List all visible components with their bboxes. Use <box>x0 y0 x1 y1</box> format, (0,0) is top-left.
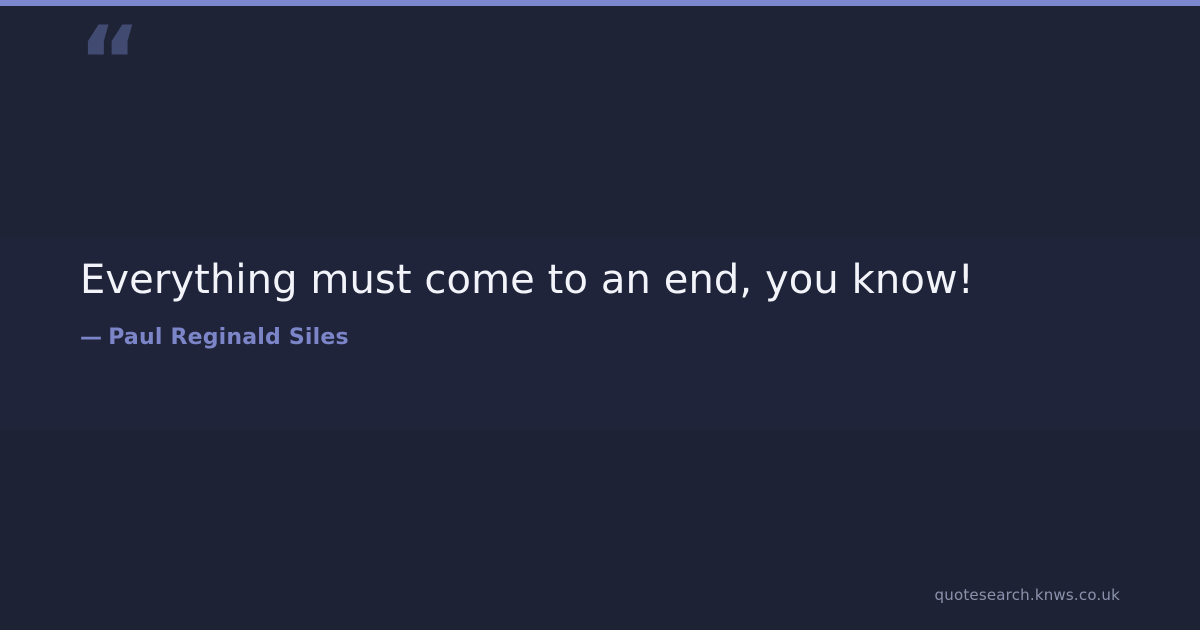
quote-body: Everything must come to an end, you know… <box>80 255 1120 350</box>
quotation-mark-icon: “ <box>78 14 139 110</box>
quote-text: Everything must come to an end, you know… <box>80 255 1120 305</box>
site-watermark: quotesearch.knws.co.uk <box>935 586 1120 604</box>
quote-card: “ Everything must come to an end, you kn… <box>0 0 1200 630</box>
quote-attribution: —Paul Reginald Siles <box>80 325 1120 350</box>
top-accent-bar <box>0 0 1200 6</box>
attribution-dash: — <box>80 325 102 350</box>
quote-author: Paul Reginald Siles <box>108 325 349 350</box>
